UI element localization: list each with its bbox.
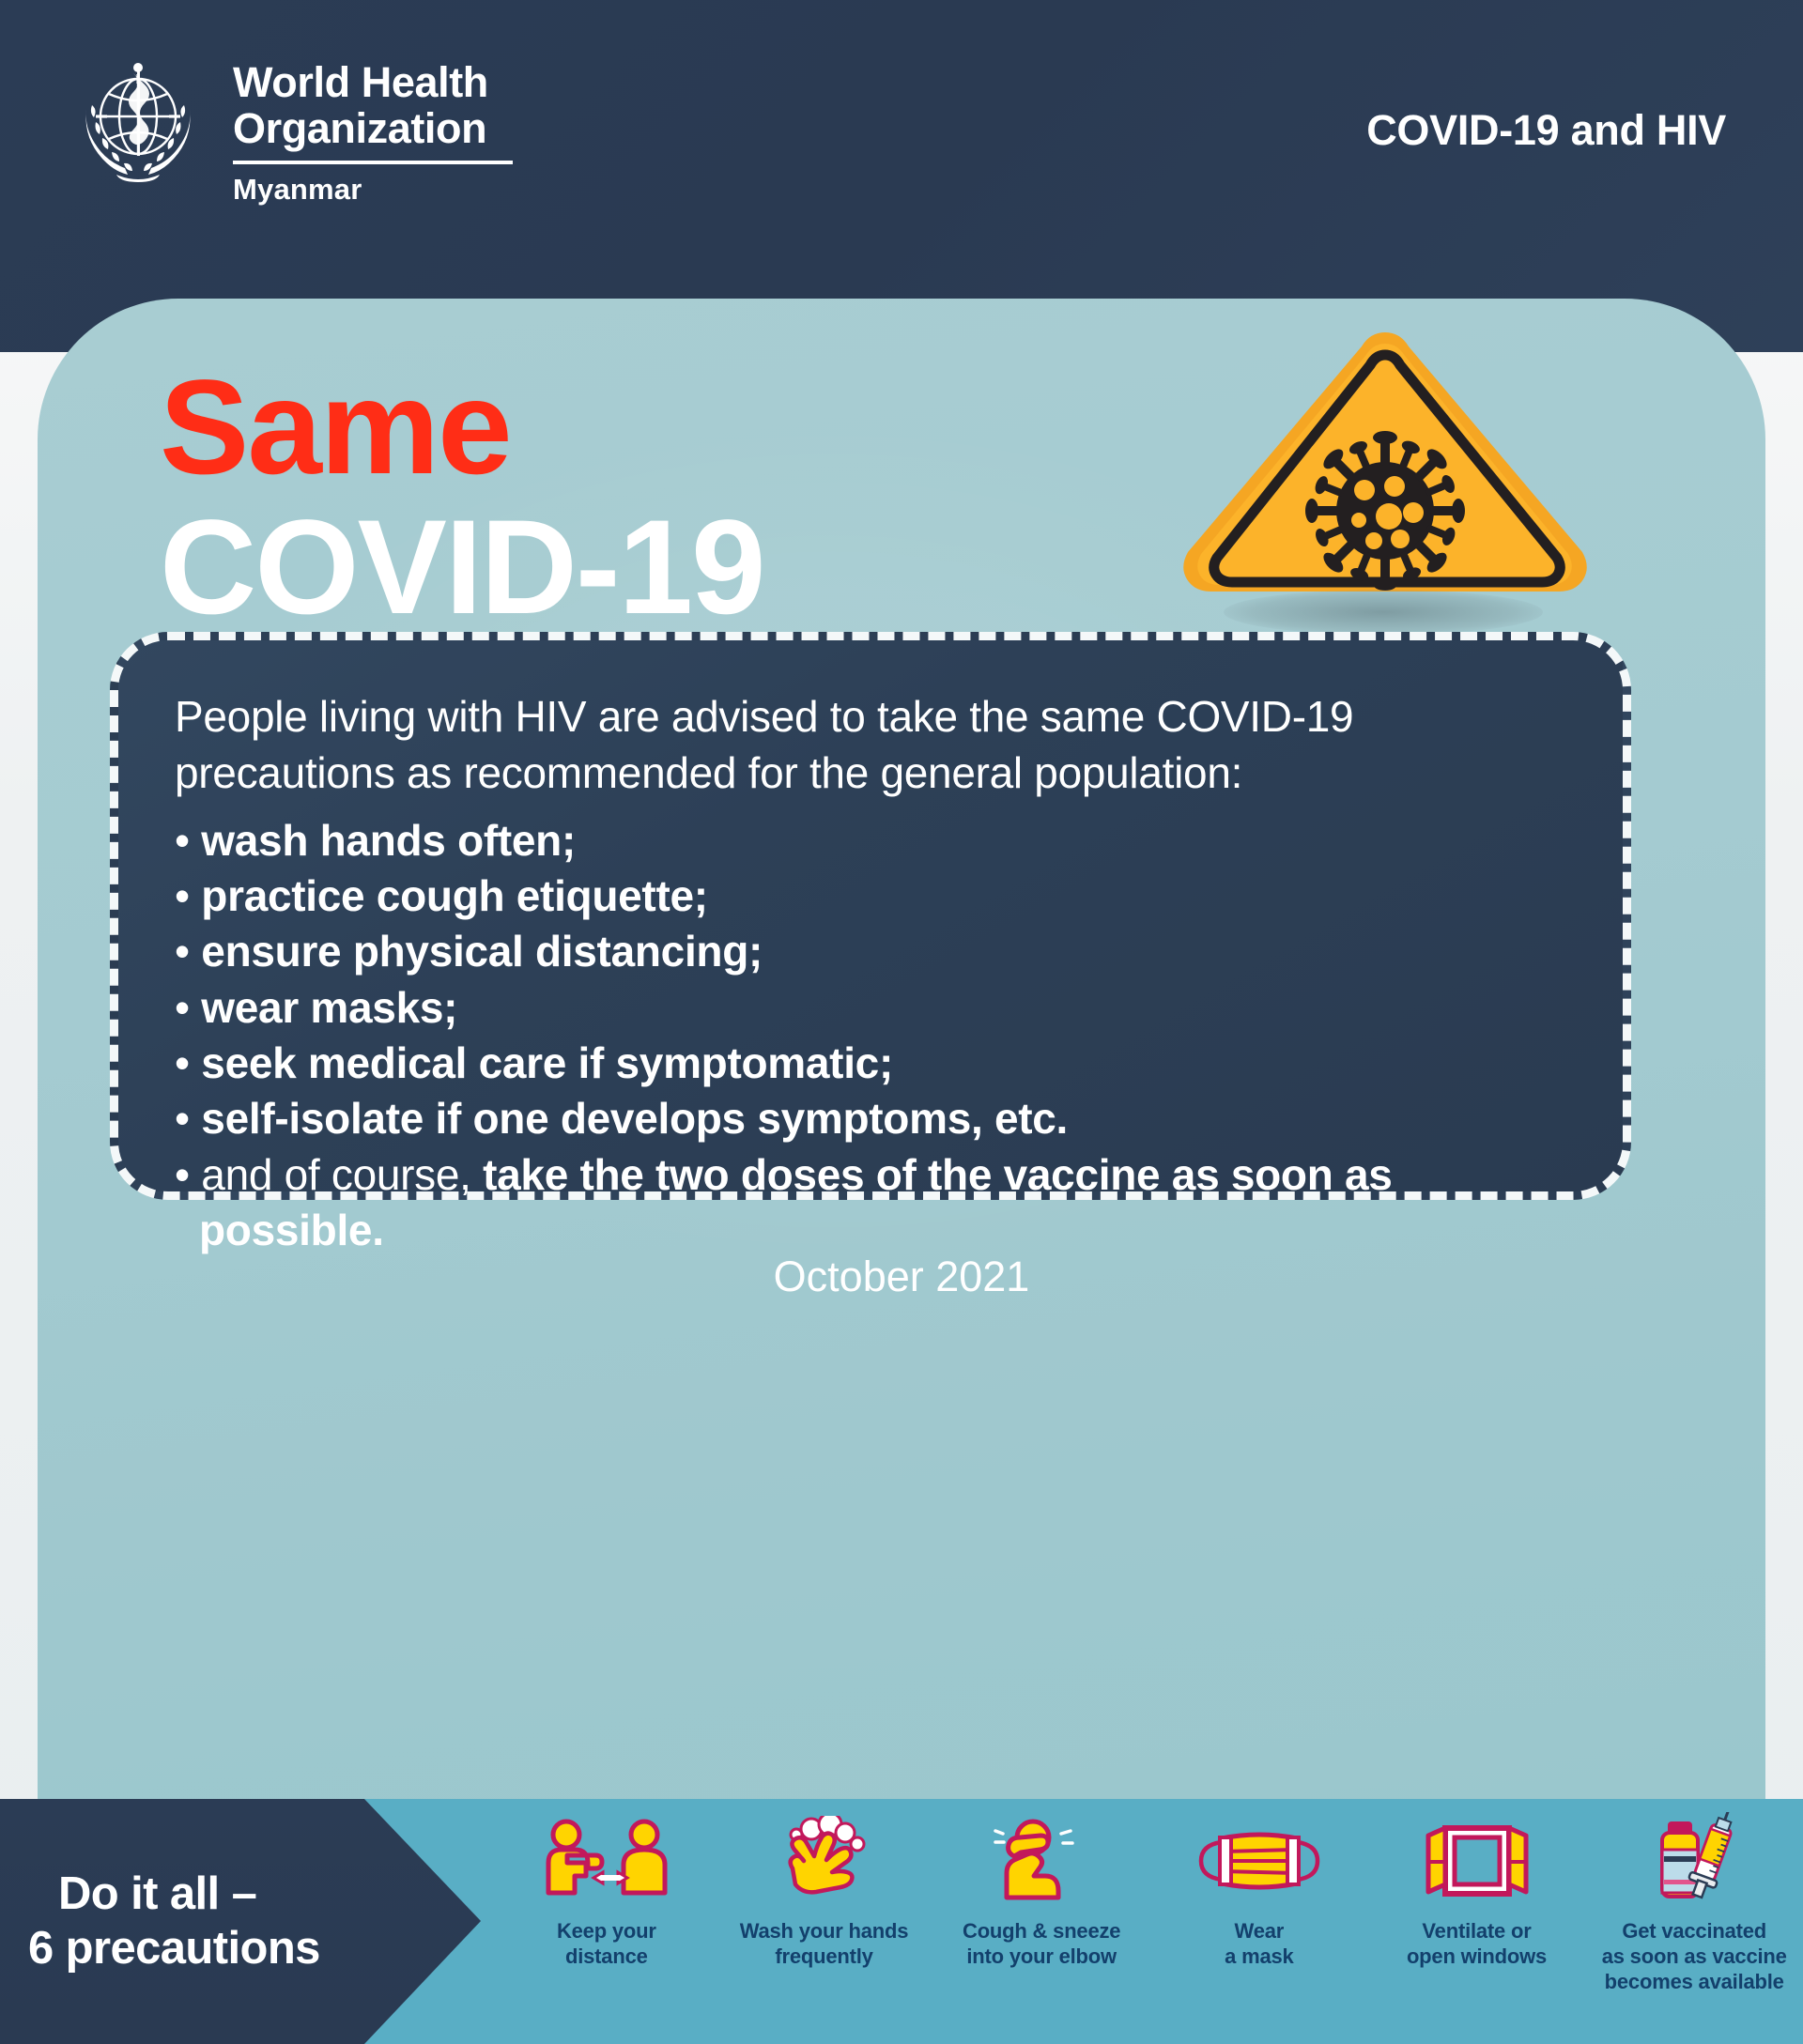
list-item: • wear masks; — [175, 980, 1566, 1036]
list-item: • and of course, take the two doses of t… — [175, 1147, 1566, 1203]
date-stamp: October 2021 — [38, 1253, 1765, 1301]
poster-root: World Health Organization Myanmar COVID-… — [0, 0, 1803, 2044]
keep-distance-icon — [541, 1812, 672, 1910]
precaution-item-cough-elbow: Cough & sneeze into your elbow — [932, 1799, 1150, 1970]
main-card: Same COVID-19 precautions — [38, 299, 1765, 1801]
precaution-item-mask: Wear a mask — [1150, 1799, 1368, 1970]
wash-hands-icon — [768, 1812, 881, 1910]
triangle-shadow — [1224, 590, 1543, 635]
list-item: • seek medical care if symptomatic; — [175, 1036, 1566, 1091]
who-org-line1: World Health — [233, 60, 513, 106]
vaccine-syringe-icon — [1645, 1812, 1743, 1910]
precaution-item-vaccine: Get vaccinated as soon as vaccine become… — [1585, 1799, 1803, 1994]
precaution-label: Wear a mask — [1225, 1919, 1293, 1970]
who-logo: World Health Organization Myanmar — [68, 49, 513, 207]
precaution-label: Cough & sneeze into your elbow — [963, 1919, 1120, 1970]
do-it-all-arrow-tag: Do it all – 6 precautions — [0, 1799, 481, 2044]
precaution-label: Keep your distance — [557, 1919, 656, 1970]
open-window-icon — [1425, 1812, 1530, 1910]
who-country-label: Myanmar — [233, 173, 513, 207]
list-item-continuation: possible. — [175, 1203, 1566, 1258]
face-mask-icon — [1197, 1812, 1321, 1910]
arrow-tag-line-1: Do it all – — [0, 1867, 481, 1922]
precaution-label: Get vaccinated as soon as vaccine become… — [1602, 1919, 1787, 1994]
precaution-label: Ventilate or open windows — [1407, 1919, 1547, 1970]
precaution-label: Wash your hands frequently — [740, 1919, 909, 1970]
headline-line-1: Same — [160, 359, 901, 499]
list-item: • practice cough etiquette; — [175, 868, 1566, 924]
who-org-line2: Organization — [233, 106, 513, 152]
who-emblem-icon — [68, 49, 208, 199]
panel-intro-text: People living with HIV are advised to ta… — [175, 689, 1566, 802]
arrow-tag-line-2: 6 precautions — [0, 1922, 481, 1976]
list-item: • wash hands often; — [175, 813, 1566, 868]
list-item: • ensure physical distancing; — [175, 924, 1566, 979]
precaution-item-ventilate: Ventilate or open windows — [1368, 1799, 1586, 1970]
precautions-panel: People living with HIV are advised to ta… — [110, 632, 1631, 1200]
precaution-item-distance: Keep your distance — [498, 1799, 716, 1970]
headline-line-2: COVID-19 — [160, 499, 901, 638]
bottom-precautions-bar: Do it all – 6 precautions — [0, 1799, 1803, 2044]
who-wordmark: World Health Organization Myanmar — [233, 49, 513, 207]
precaution-item-wash-hands: Wash your hands frequently — [716, 1799, 933, 1970]
cough-elbow-icon — [990, 1812, 1093, 1910]
warning-triangle-graphic — [1179, 327, 1592, 637]
list-item: • self-isolate if one develops symptoms,… — [175, 1091, 1566, 1146]
header-topic-title: COVID-19 and HIV — [1366, 106, 1726, 155]
precaution-icon-row: Keep your distance — [498, 1799, 1803, 2044]
precaution-bullet-list: • wash hands often; • practice cough eti… — [175, 813, 1566, 1259]
coronavirus-warning-triangle-icon — [1179, 327, 1592, 594]
who-divider — [233, 161, 513, 164]
